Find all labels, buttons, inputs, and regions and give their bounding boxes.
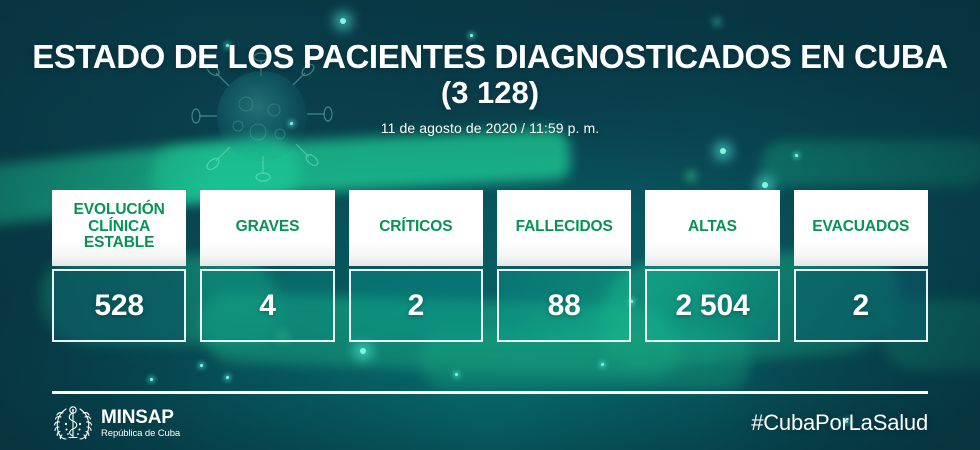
statistics-card-row: EVOLUCIÓN CLÍNICA ESTABLE 528 GRAVES 4 C… <box>52 190 928 342</box>
stat-card-value: 2 504 <box>675 289 749 323</box>
stat-card-value: 4 <box>259 289 276 323</box>
campaign-hashtag: #CubaPorLaSalud <box>751 410 928 436</box>
glow-particle <box>762 182 768 188</box>
stat-card-body: 2 <box>794 269 928 342</box>
stat-card-body: 4 <box>200 269 334 342</box>
stat-card-body: 2 504 <box>645 269 779 342</box>
stat-card-header: ALTAS <box>645 190 779 266</box>
stat-card-label: CRÍTICOS <box>379 219 452 236</box>
stat-card-header: FALLECIDOS <box>497 190 631 266</box>
glow-particle <box>601 363 604 366</box>
stat-card-header: GRAVES <box>200 190 334 266</box>
stat-card-value: 2 <box>853 289 870 323</box>
stat-card-body: 88 <box>497 269 631 342</box>
stat-card-value: 88 <box>548 289 581 323</box>
report-timestamp: 11 de agosto de 2020 / 11:59 p. m. <box>0 120 980 136</box>
glow-particle <box>340 18 346 24</box>
poster-header: ESTADO DE LOS PACIENTES DIAGNOSTICADOS E… <box>0 40 980 136</box>
infographic-poster: ESTADO DE LOS PACIENTES DIAGNOSTICADOS E… <box>0 0 980 450</box>
stat-card-label: EVOLUCIÓN CLÍNICA ESTABLE <box>74 202 165 252</box>
poster-footer: MINSAP República de Cuba #CubaPorLaSalud <box>52 400 928 446</box>
glow-particle <box>150 378 153 381</box>
stat-card-label: EVACUADOS <box>812 219 909 236</box>
stat-card-label: ALTAS <box>688 219 737 236</box>
glow-particle <box>455 373 458 376</box>
minsap-caduceus-laurel-emblem-icon <box>52 404 94 442</box>
organization-subtitle: República de Cuba <box>101 429 180 439</box>
stat-card-header: EVACUADOS <box>794 190 928 266</box>
glow-particle <box>226 376 229 379</box>
total-count: (3 128) <box>0 75 980 111</box>
footer-divider <box>52 391 928 394</box>
glow-particle <box>795 154 798 157</box>
stat-card-evolucion-clinica-estable: EVOLUCIÓN CLÍNICA ESTABLE 528 <box>52 190 186 342</box>
minsap-text-block: MINSAP República de Cuba <box>101 408 180 439</box>
glow-particle <box>200 364 203 367</box>
stat-card-body: 528 <box>52 269 186 342</box>
page-title: ESTADO DE LOS PACIENTES DIAGNOSTICADOS E… <box>0 40 980 75</box>
stat-card-fallecidos: FALLECIDOS 88 <box>497 190 631 342</box>
stat-card-label: GRAVES <box>236 219 300 236</box>
minsap-branding: MINSAP República de Cuba <box>52 404 180 442</box>
stat-card-value: 2 <box>408 289 425 323</box>
stat-card-criticos: CRÍTICOS 2 <box>349 190 483 342</box>
stat-card-altas: ALTAS 2 504 <box>645 190 779 342</box>
organization-name: MINSAP <box>101 408 180 427</box>
stat-card-header: CRÍTICOS <box>349 190 483 266</box>
glow-particle <box>720 148 726 154</box>
stat-card-label: FALLECIDOS <box>516 219 613 236</box>
stat-card-evacuados: EVACUADOS 2 <box>794 190 928 342</box>
stat-card-graves: GRAVES 4 <box>200 190 334 342</box>
glow-particle <box>470 34 473 37</box>
stat-card-header: EVOLUCIÓN CLÍNICA ESTABLE <box>52 190 186 266</box>
stat-card-value: 528 <box>94 289 143 323</box>
stat-card-body: 2 <box>349 269 483 342</box>
glow-particle <box>360 348 366 354</box>
